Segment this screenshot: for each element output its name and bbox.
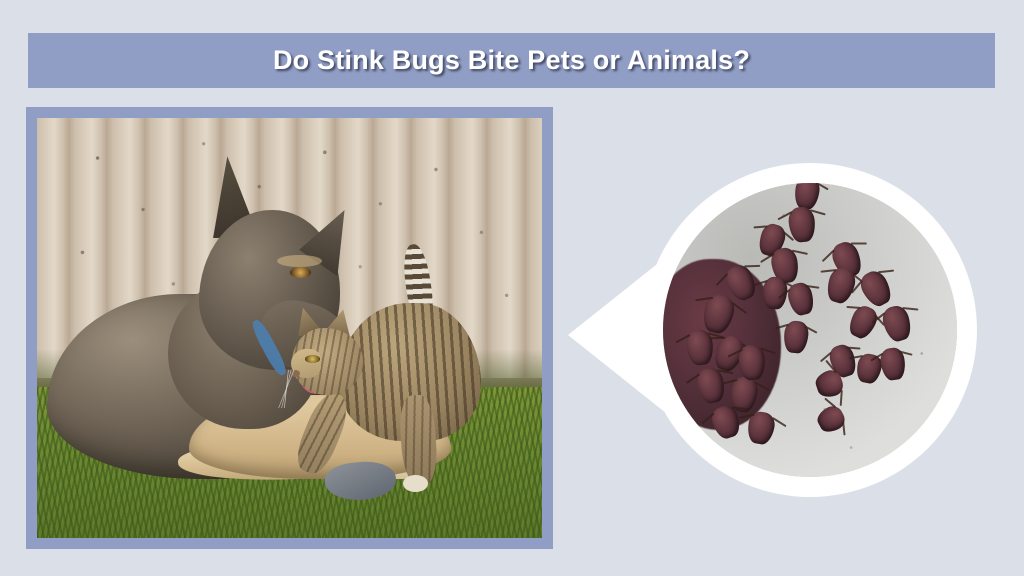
cat-eye (305, 355, 320, 363)
cat-whiskers (259, 370, 315, 408)
dog-eye (290, 267, 311, 278)
dog-eyebrow-marking (277, 255, 322, 268)
stink-bug-photo (663, 183, 957, 477)
title-banner: Do Stink Bugs Bite Pets or Animals? (28, 33, 995, 88)
dog-and-cat-photo (37, 118, 542, 538)
cat-paw (403, 475, 428, 492)
left-photo-frame (26, 107, 553, 549)
page-title: Do Stink Bugs Bite Pets or Animals? (273, 45, 750, 76)
magnifier-callout (560, 152, 980, 512)
slide-canvas: Do Stink Bugs Bite Pets or Animals? (0, 0, 1024, 576)
